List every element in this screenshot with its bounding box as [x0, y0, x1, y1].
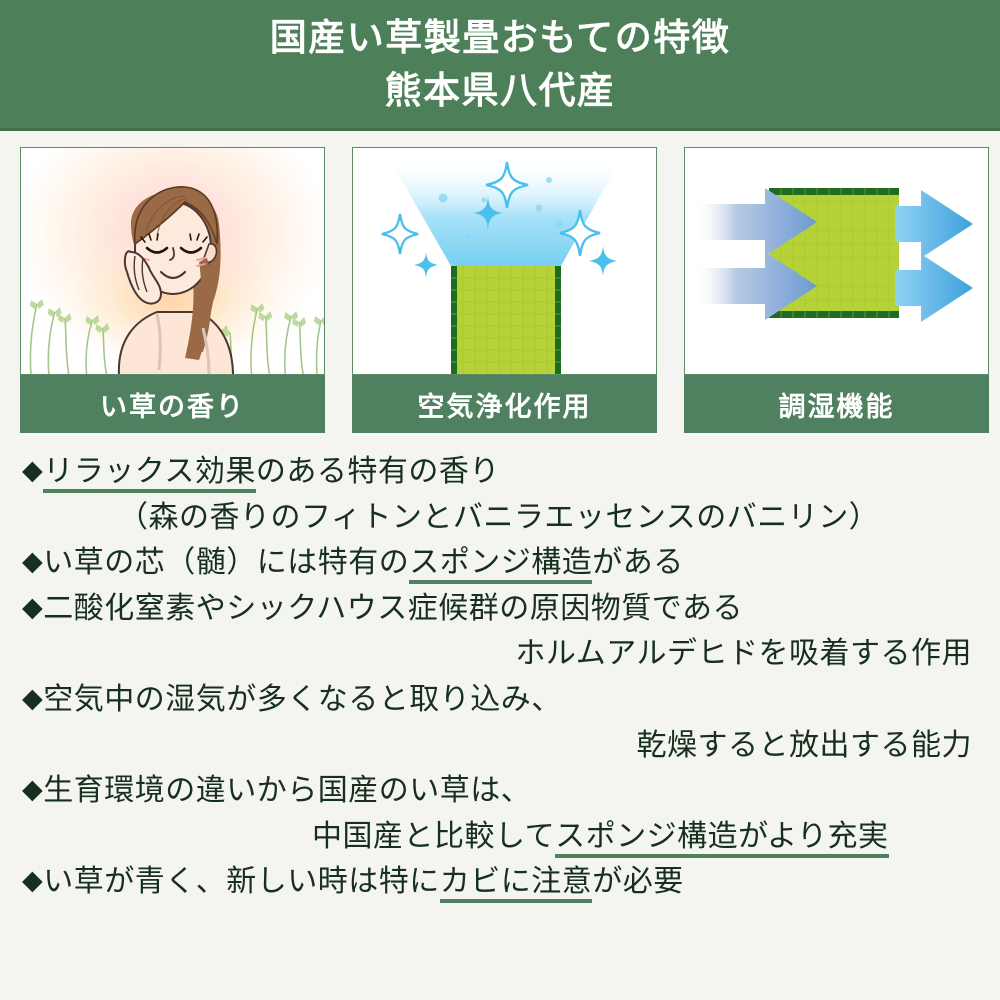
- body-text: 空気中の湿気が多くなると取り込み、: [43, 683, 562, 716]
- body-text: い草の芯（髄）には特有の: [43, 546, 409, 579]
- diamond-bullet-icon: ◆: [22, 546, 43, 577]
- card-image-air-purification: [352, 147, 657, 375]
- feature-bullet-list: ◆リラックス効果のある特有の香り（森の香りのフィトンとバニラエッセンスのバニリン…: [0, 433, 1000, 905]
- highlighted-text: リラックス効果: [43, 455, 256, 493]
- diamond-bullet-icon: ◆: [22, 455, 43, 486]
- bullet-continuation-line: 中国産と比較してスポンジ構造がより充実: [22, 814, 980, 860]
- bullet-line: ◆二酸化窒素やシックハウス症候群の原因物質である: [22, 586, 980, 632]
- bullet-line: ◆リラックス効果のある特有の香り: [22, 449, 980, 495]
- sparkle-air-icon: [353, 148, 656, 374]
- body-text: い草が青く、新しい時は特に: [43, 865, 440, 898]
- card-label-air-purification: 空気浄化作用: [352, 375, 657, 433]
- body-text: が必要: [592, 865, 684, 898]
- feature-card-fragrance[interactable]: い草の香り: [20, 147, 325, 433]
- bullet-line: ◆い草が青く、新しい時は特にカビに注意が必要: [22, 859, 980, 905]
- diamond-bullet-icon: ◆: [22, 774, 43, 805]
- feature-card-air-purification[interactable]: 空気浄化作用: [352, 147, 657, 433]
- body-text: 生育環境の違いから国産のい草は、: [43, 774, 531, 807]
- body-text: 二酸化窒素やシックハウス症候群の原因物質である: [43, 592, 743, 625]
- feature-card-row: い草の香り: [0, 131, 1000, 433]
- bullet-continuation-line: 乾燥すると放出する能力: [22, 723, 980, 769]
- feature-card-humidity-control[interactable]: 調湿機能: [684, 147, 989, 433]
- diamond-bullet-icon: ◆: [22, 683, 43, 714]
- body-text: のある特有の香り: [256, 455, 500, 488]
- page-header: 国産い草製畳おもての特徴 熊本県八代産: [0, 0, 1000, 131]
- card-label-humidity-control: 調湿機能: [684, 375, 989, 433]
- body-text: （森の香りのフィトンとバニラエッセンスのバニリン）: [118, 501, 879, 534]
- bullet-continuation-line: （森の香りのフィトンとバニラエッセンスのバニリン）: [22, 495, 980, 541]
- diamond-bullet-icon: ◆: [22, 592, 43, 623]
- card-image-fragrance: [20, 147, 325, 375]
- card-label-fragrance: い草の香り: [20, 375, 325, 433]
- highlighted-text: スポンジ構造: [409, 546, 592, 584]
- page-title-line1: 国産い草製畳おもての特徴: [270, 12, 731, 65]
- body-text: 中国産と比較して: [312, 820, 555, 853]
- page-title-line2: 熊本県八代産: [385, 65, 616, 118]
- humidity-arrows-icon: [685, 148, 988, 374]
- body-text: ホルムアルデヒドを吸着する作用: [515, 637, 972, 670]
- bullet-line: ◆生育環境の違いから国産のい草は、: [22, 768, 980, 814]
- diamond-bullet-icon: ◆: [22, 865, 43, 896]
- card-image-humidity-control: [684, 147, 989, 375]
- relaxed-woman-icon: [73, 152, 273, 375]
- bullet-line: ◆い草の芯（髄）には特有のスポンジ構造がある: [22, 540, 980, 586]
- bullet-continuation-line: ホルムアルデヒドを吸着する作用: [22, 631, 980, 677]
- highlighted-text: スポンジ構造がより充実: [555, 820, 888, 858]
- body-text: 乾燥すると放出する能力: [637, 729, 973, 762]
- body-text: がある: [592, 546, 684, 579]
- bullet-line: ◆空気中の湿気が多くなると取り込み、: [22, 677, 980, 723]
- highlighted-text: カビに注意: [440, 865, 593, 903]
